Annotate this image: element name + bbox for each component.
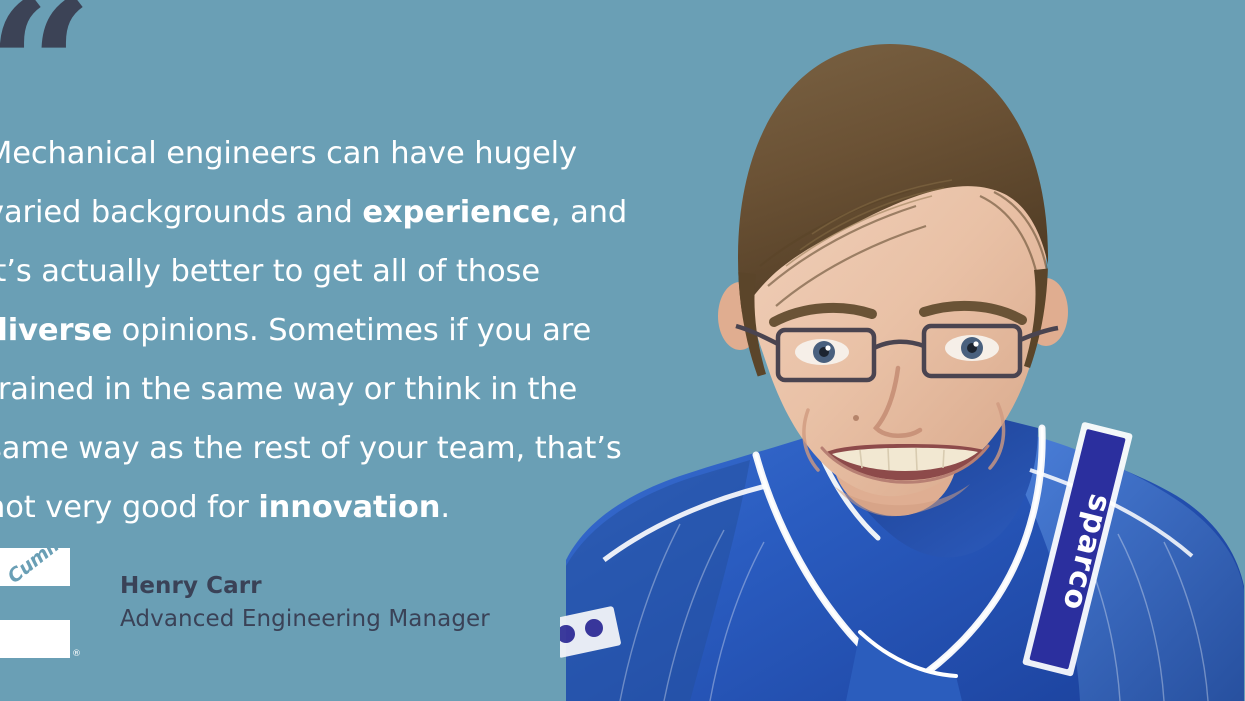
quote-emphasis: diverse bbox=[0, 313, 112, 348]
quote-text: Mechanical engineers can have hugelyvari… bbox=[0, 124, 672, 537]
quote-line-1: Mechanical engineers can have hugely bbox=[0, 124, 672, 183]
attribution-text: Henry Carr Advanced Engineering Manager bbox=[120, 570, 490, 636]
quote-run: Mechanical engineers can have hugely bbox=[0, 136, 577, 171]
quote-run: trained in the same way or think in the bbox=[0, 372, 577, 407]
author-role: Advanced Engineering Manager bbox=[120, 602, 490, 636]
quote-line-4: diverse opinions. Sometimes if you are bbox=[0, 301, 672, 360]
quote-run: not very good for bbox=[0, 490, 258, 525]
quote-panel: “ Mechanical engineers can have hugelyva… bbox=[0, 0, 672, 701]
quote-run: . bbox=[440, 490, 450, 525]
quote-line-2: varied backgrounds and experience, and bbox=[0, 183, 672, 242]
quote-line-5: trained in the same way or think in the bbox=[0, 360, 672, 419]
quote-run: , and bbox=[551, 195, 627, 230]
author-name: Henry Carr bbox=[120, 570, 490, 602]
quote-run: opinions. Sometimes if you are bbox=[112, 313, 591, 348]
quote-run: it’s actually better to get all of those bbox=[0, 254, 540, 289]
quote-line-6: same way as the rest of your team, that’… bbox=[0, 419, 672, 478]
attribution: Cummins ® Henry Carr Advanced Engineerin… bbox=[0, 540, 490, 665]
quote-line-3: it’s actually better to get all of those bbox=[0, 242, 672, 301]
quote-line-7: not very good for innovation. bbox=[0, 478, 672, 537]
quote-emphasis: experience bbox=[362, 195, 551, 230]
quote-emphasis: innovation bbox=[258, 490, 440, 525]
testimonial-card: sparco bbox=[0, 0, 1245, 701]
cummins-logo: Cummins ® bbox=[0, 540, 88, 665]
quote-run: varied backgrounds and bbox=[0, 195, 362, 230]
quote-run: same way as the rest of your team, that’… bbox=[0, 431, 622, 466]
svg-text:®: ® bbox=[72, 649, 81, 659]
